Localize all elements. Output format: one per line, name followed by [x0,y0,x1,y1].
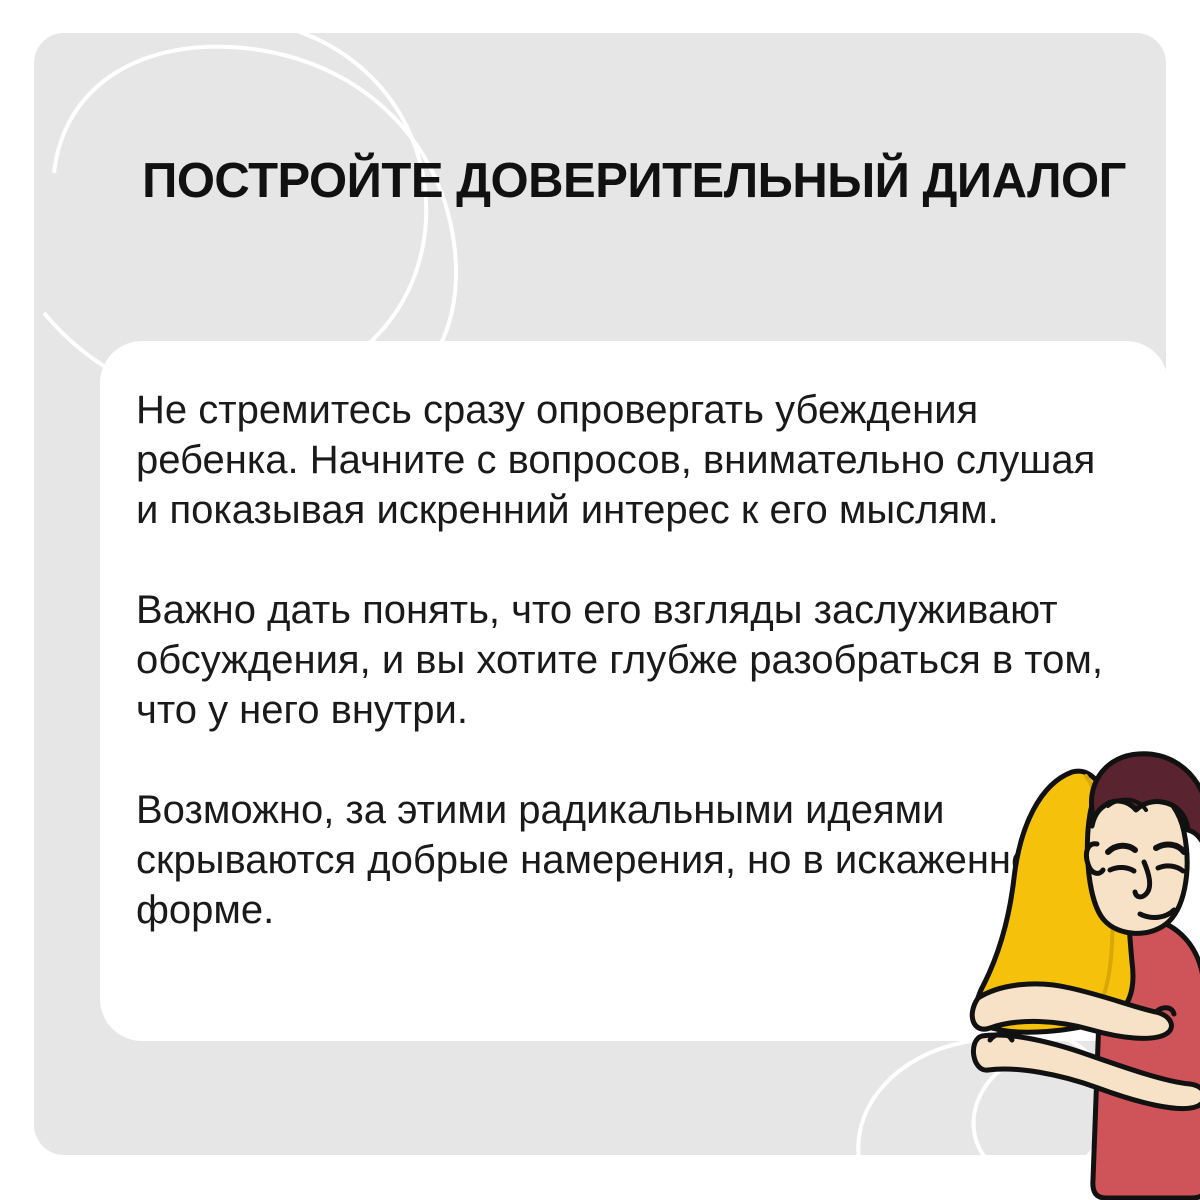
paragraph-2: Важно дать понять, что его взгляды заслу… [136,585,1128,735]
blue-sleeve [1166,950,1200,1120]
paragraph-3: Возможно, за этими радикальными идеями с… [136,785,1128,935]
background-card: ПОСТРОЙТЕ ДОВЕРИТЕЛЬНЫЙ ДИАЛОГ Не стреми… [34,33,1166,1155]
content-card: Не стремитесь сразу опровергать убеждени… [100,341,1166,1041]
slide-root: ПОСТРОЙТЕ ДОВЕРИТЕЛЬНЫЙ ДИАЛОГ Не стреми… [0,0,1200,1200]
body-copy: Не стремитесь сразу опровергать убеждени… [136,385,1128,935]
paragraph-1: Не стремитесь сразу опровергать убеждени… [136,385,1128,535]
page-title: ПОСТРОЙТЕ ДОВЕРИТЕЛЬНЫЙ ДИАЛОГ [34,153,1166,209]
